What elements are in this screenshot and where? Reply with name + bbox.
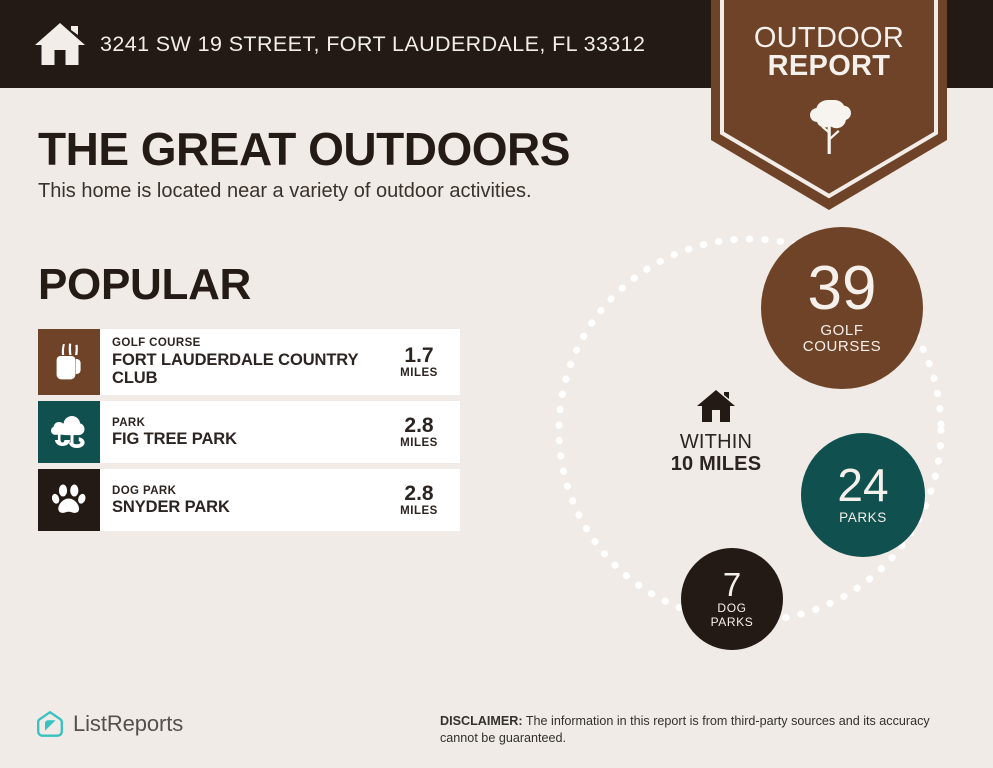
within-radius-center: WITHIN 10 MILES [640,388,792,476]
list-item-body: GOLF COURSE FORT LAUDERDALE COUNTRY CLUB [100,329,382,395]
home-icon [696,388,736,425]
listreports-logo[interactable]: ListReports [36,710,183,738]
list-item-category: DOG PARK [112,484,382,498]
stat-bubble-dog-parks: 7 DOG PARKS [681,548,783,650]
stat-label-line2: PARKS [711,615,754,629]
list-item-distance-value: 2.8 [404,415,433,437]
list-item-name: FORT LAUDERDALE COUNTRY CLUB [112,351,382,388]
list-item-distance-unit: MILES [400,367,438,379]
page-subtitle: This home is located near a variety of o… [38,180,532,203]
stat-label-line2: COURSES [803,338,881,355]
stat-bubble-parks: 24 PARKS [801,433,925,557]
list-item-category: GOLF COURSE [112,336,382,350]
list-item[interactable]: PARK FIG TREE PARK 2.8 MILES [38,401,460,463]
stat-label-line1: DOG [717,601,746,615]
list-item-body: PARK FIG TREE PARK [100,401,382,463]
stat-label-line1: GOLF [820,322,863,339]
stat-bubble-golf-courses: 39 GOLF COURSES [761,227,923,389]
stat-label: GOLF COURSES [803,323,881,356]
popular-list: GOLF COURSE FORT LAUDERDALE COUNTRY CLUB… [38,329,460,537]
list-item-name: FIG TREE PARK [112,430,382,448]
list-item-distance: 2.8 MILES [382,469,460,531]
list-item[interactable]: GOLF COURSE FORT LAUDERDALE COUNTRY CLUB… [38,329,460,395]
within-label-line2: 10 MILES [640,453,792,476]
property-address: 3241 SW 19 STREET, FORT LAUDERDALE, FL 3… [100,32,645,57]
list-item-icon-tile [38,401,100,463]
list-item-distance: 2.8 MILES [382,401,460,463]
disclaimer-label: DISCLAIMER: [440,714,523,728]
page-title: THE GREAT OUTDOORS [38,122,570,176]
within-label-line1: WITHIN [640,431,792,453]
list-item-distance: 1.7 MILES [382,329,460,395]
list-item-name: SNYDER PARK [112,498,382,516]
list-item-icon-tile [38,469,100,531]
disclaimer: DISCLAIMER: The information in this repo… [440,713,960,747]
stat-label: PARKS [839,511,887,526]
list-item-body: DOG PARK SNYDER PARK [100,469,382,531]
listreports-house-icon [36,710,64,738]
golf-bag-icon [52,343,86,381]
paw-print-icon [52,483,86,517]
stat-value: 39 [808,260,877,319]
list-item-icon-tile [38,329,100,395]
stat-label: DOG PARKS [711,602,754,628]
popular-section-title: POPULAR [38,260,251,310]
home-icon [33,19,87,69]
list-item[interactable]: DOG PARK SNYDER PARK 2.8 MILES [38,469,460,531]
list-item-distance-value: 2.8 [404,483,433,505]
list-item-distance-unit: MILES [400,437,438,449]
stat-value: 24 [837,464,888,508]
listreports-logo-text: ListReports [73,711,183,737]
trees-icon [51,415,87,449]
stat-value: 7 [723,569,741,600]
outdoor-report-page: 3241 SW 19 STREET, FORT LAUDERDALE, FL 3… [0,0,993,768]
outdoor-report-badge: OUTDOOR REPORT [711,0,947,210]
list-item-distance-value: 1.7 [404,345,433,367]
list-item-category: PARK [112,416,382,430]
list-item-distance-unit: MILES [400,505,438,517]
